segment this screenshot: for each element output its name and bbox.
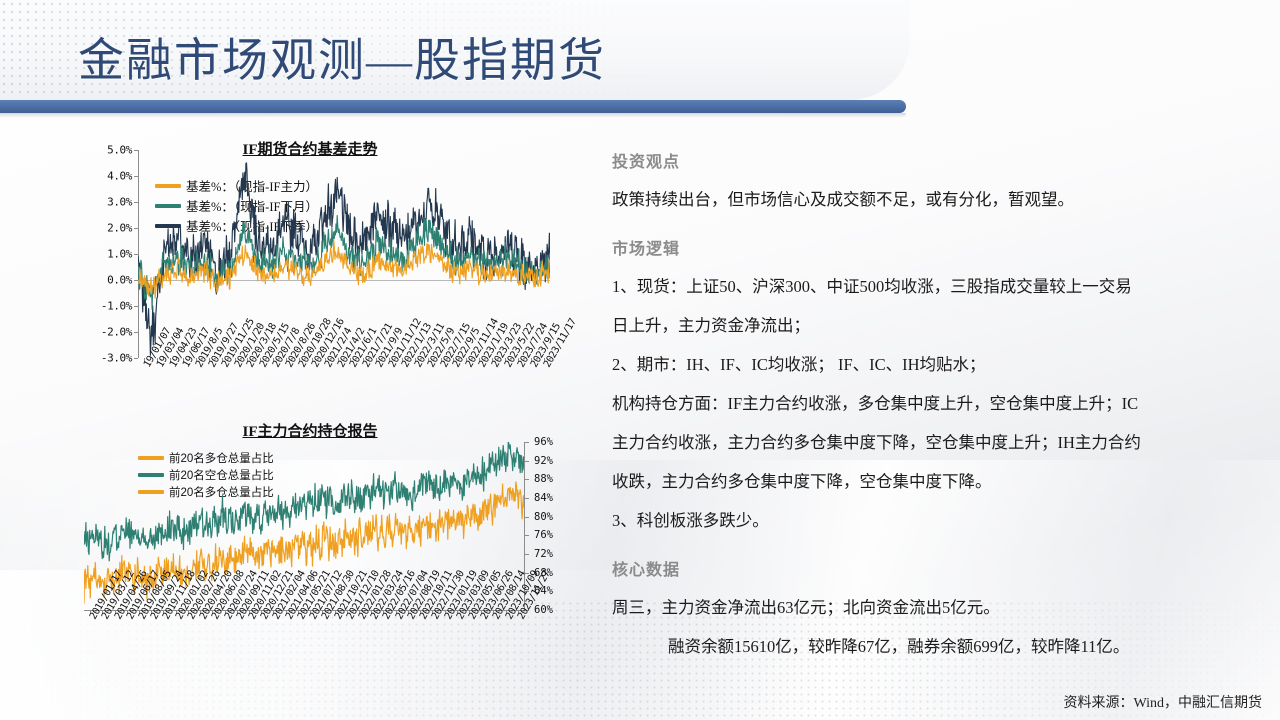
y-axis-tick-label: -3.0% xyxy=(101,352,132,365)
y-axis-tick-label: 84% xyxy=(534,492,553,504)
y-axis-tick xyxy=(134,358,138,359)
y-axis-tick-label: 3.0% xyxy=(107,196,132,209)
commentary-line: 3、科创板涨多跌少。 xyxy=(612,505,1262,536)
if-position-chart: IF主力合约持仓报告 96%92%88%84%80%76%72%68%64%60… xyxy=(60,420,580,680)
y-axis-tick-label: 88% xyxy=(534,473,553,485)
commentary-section: 投资观点政策持续出台，但市场信心及成交额不足，或有分化，暂观望。 xyxy=(612,148,1262,215)
y-axis-tick-label: 92% xyxy=(534,455,553,467)
commentary-line: 2、期市：IH、IF、IC均收涨； IF、IC、IH均贴水； xyxy=(612,349,1262,380)
y-axis-tick-label: 72% xyxy=(534,548,553,560)
y-axis-tick-label: 96% xyxy=(534,436,553,448)
y-axis-tick-label: 80% xyxy=(534,511,553,523)
header-accent-bar xyxy=(0,100,906,113)
commentary-line: 政策持续出台，但市场信心及成交额不足，或有分化，暂观望。 xyxy=(612,184,1262,215)
y-axis-tick-label: 76% xyxy=(534,529,553,541)
header-accent-bar-shadow xyxy=(0,113,906,118)
page-title: 金融市场观测—股指期货 xyxy=(78,34,606,88)
commentary-section-heading: 核心数据 xyxy=(612,556,1262,580)
y-axis-tick-label: 4.0% xyxy=(107,170,132,183)
commentary-line: 日上升，主力资金净流出； xyxy=(612,310,1262,341)
commentary-section-heading: 投资观点 xyxy=(612,148,1262,172)
commentary-panel: 投资观点政策持续出台，但市场信心及成交额不足，或有分化，暂观望。市场逻辑1、现货… xyxy=(612,148,1262,682)
y-axis-tick-label: 2.0% xyxy=(107,222,132,235)
y-axis-tick-label: 5.0% xyxy=(107,144,132,157)
commentary-section: 核心数据周三，主力资金净流出63亿元；北向资金流出5亿元。融资余额15610亿，… xyxy=(612,556,1262,662)
y-axis-tick-label: 1.0% xyxy=(107,248,132,261)
commentary-line: 融资余额15610亿，较昨降67亿，融券余额699亿，较昨降11亿。 xyxy=(612,631,1262,662)
y-axis-tick-label: -1.0% xyxy=(101,300,132,313)
commentary-line: 1、现货：上证50、沪深300、中证500均收涨，三股指成交量较上一交易 xyxy=(612,271,1262,302)
commentary-line: 机构持仓方面：IF主力合约收涨，多仓集中度上升，空仓集中度上升；IC xyxy=(612,388,1262,419)
if-basis-chart: IF期货合约基差走势 5.0%4.0%3.0%2.0%1.0%0.0%-1.0%… xyxy=(60,138,560,398)
y-axis-tick-label: 0.0% xyxy=(107,274,132,287)
commentary-line: 周三，主力资金净流出63亿元；北向资金流出5亿元。 xyxy=(612,592,1262,623)
if-position-chart-title: IF主力合约持仓报告 xyxy=(80,420,540,441)
commentary-section-heading: 市场逻辑 xyxy=(612,235,1262,259)
source-note: 资料来源：Wind，中融汇信期货 xyxy=(1063,692,1262,712)
commentary-section: 市场逻辑1、现货：上证50、沪深300、中证500均收涨，三股指成交量较上一交易… xyxy=(612,235,1262,536)
y-axis-tick-label: 60% xyxy=(534,604,553,616)
commentary-line: 收跌，主力合约多仓集中度下降，空仓集中度下降。 xyxy=(612,466,1262,497)
slide-canvas: 金融市场观测—股指期货 IF期货合约基差走势 5.0%4.0%3.0%2.0%1… xyxy=(0,0,1280,720)
y-axis-tick-label: -2.0% xyxy=(101,326,132,339)
slide-header: 金融市场观测—股指期货 xyxy=(0,0,1280,118)
commentary-line: 主力合约收涨，主力合约多仓集中度下降，空仓集中度上升；IH主力合约 xyxy=(612,427,1262,458)
